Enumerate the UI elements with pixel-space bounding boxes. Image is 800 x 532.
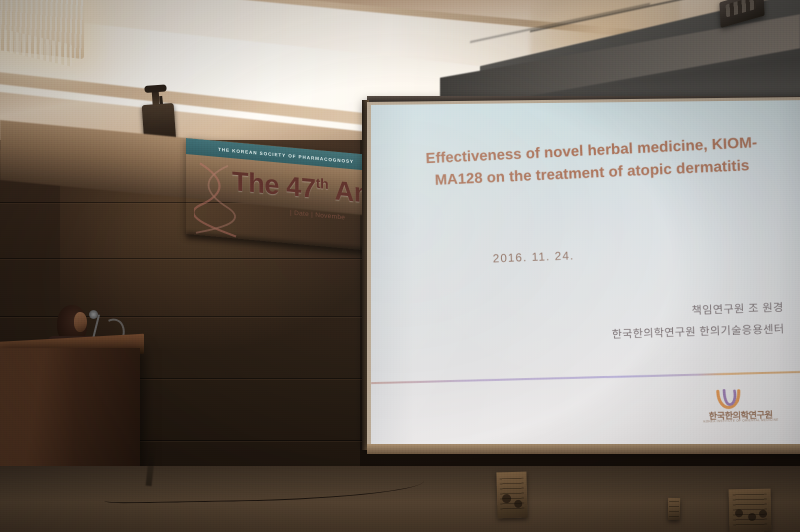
chandelier-icon bbox=[0, 0, 84, 59]
slide-date: 2016. 11. 24. bbox=[492, 251, 574, 266]
banner-date: | Date | Novembe bbox=[290, 209, 345, 221]
poster-board bbox=[668, 498, 680, 520]
poster-figure bbox=[735, 509, 743, 517]
poster-figure bbox=[759, 510, 767, 518]
conference-banner: THE KOREAN SOCIETY OF PHARMACOGNOSY The … bbox=[186, 138, 386, 252]
banner-title-main: The 47 bbox=[232, 166, 316, 204]
speaker-face bbox=[74, 312, 87, 332]
slide-title: Effectiveness of novel herbal medicine, … bbox=[388, 130, 797, 194]
poster-board bbox=[729, 489, 772, 532]
kiom-logo-english: KOREA INSTITUTE OF ORIENTAL MEDICINE bbox=[697, 418, 785, 424]
projected-slide: Effectiveness of novel herbal medicine, … bbox=[371, 100, 800, 449]
slide-affiliation: 한국한의학연구원 한의기술응용센터 bbox=[612, 319, 785, 346]
screen-bottom-edge bbox=[367, 444, 800, 454]
banner-title-ordinal: th bbox=[316, 175, 329, 192]
poster-board bbox=[496, 472, 527, 519]
kiom-logo: 한국한의학연구원 KOREA INSTITUTE OF ORIENTAL MED… bbox=[696, 388, 785, 425]
slide-divider-rule bbox=[371, 370, 800, 384]
kiom-logo-mark-icon bbox=[715, 389, 743, 410]
slide-author-block: 책임연구원 조 원경 한국한의학연구원 한의기술응용센터 bbox=[611, 298, 785, 346]
conference-photo: THE KOREAN SOCIETY OF PHARMACOGNOSY The … bbox=[0, 0, 800, 532]
poster-content-lines bbox=[669, 501, 679, 518]
microphone-icon bbox=[89, 310, 98, 319]
projection-screen: Effectiveness of novel herbal medicine, … bbox=[367, 97, 800, 453]
